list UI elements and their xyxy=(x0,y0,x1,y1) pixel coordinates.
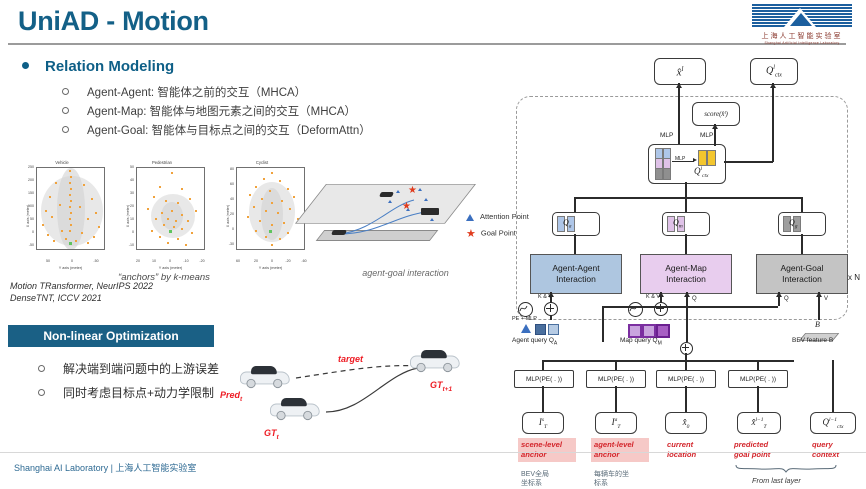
y-tick: 100 xyxy=(17,204,34,208)
x-tick: 0 xyxy=(169,259,171,263)
x-tick: 20 xyxy=(254,259,258,263)
plot-ylabel: X axis (meter) xyxy=(26,205,30,227)
map-query-square-icon xyxy=(628,324,642,338)
input-box-current-location: x̂0 xyxy=(665,412,707,434)
agent-agent-label: Agent-AgentInteraction xyxy=(552,263,599,284)
trajectory-paths xyxy=(218,342,518,454)
agent-query-square-icon xyxy=(535,324,546,335)
from-last-layer-label: From last layer xyxy=(752,476,801,485)
y-tick: 40 xyxy=(217,197,234,201)
y-tick: 40 xyxy=(117,178,134,182)
citation-1: Motion TRansformer, NeurIPS 2022 xyxy=(10,281,153,291)
map-query-square-icon xyxy=(642,324,656,338)
scene-anchor-caption: scene-levelanchor xyxy=(521,440,562,460)
sub-bullet-ring-icon xyxy=(62,88,69,95)
slide-root: UniAD - Motion 上海人工智能实验室 Shanghai Artifi… xyxy=(0,0,866,486)
query-context-caption: querycontext xyxy=(812,440,839,460)
citation-2: DenseTNT, ICCV 2021 xyxy=(10,293,102,303)
query-box-map: Qm xyxy=(662,212,710,236)
logo-cn-text: 上海人工智能实验室 xyxy=(746,31,858,41)
kv-label-agent: K & V xyxy=(538,294,552,300)
mlp-label-left: MLP xyxy=(660,132,673,139)
logo-en-text: Shanghai Artificial Intelligence Laborat… xyxy=(746,41,858,45)
sub-bullet-agent-goal: Agent-Goal: 智能体与目标点之间的交互（DeformAttn） xyxy=(62,122,371,138)
bev-feature-label: BEV feature B xyxy=(792,337,833,344)
plot-xlabel: Y axis (meter) xyxy=(136,266,205,270)
footer-text: Shanghai AI Laboratory | 上海人工智能实验室 xyxy=(14,461,196,474)
ego-car-icon xyxy=(331,230,347,235)
sub-bullet-label: Agent-Map: 智能体与地图元素之间的交互（MHCA） xyxy=(87,106,356,118)
plot-frame xyxy=(36,167,105,250)
bullet-dot-icon xyxy=(22,62,29,69)
y-tick: 50 xyxy=(117,165,134,169)
y-tick: 150 xyxy=(17,191,34,195)
map-query-square-icon xyxy=(656,324,670,338)
y-tick: 0 xyxy=(117,230,134,234)
kv-label-map: K & V xyxy=(646,294,660,300)
agent-query-square-icon xyxy=(548,324,559,335)
title-divider xyxy=(8,43,846,45)
score-box: score(x̂ˡ) xyxy=(692,102,740,126)
sub-bullet-ring-icon xyxy=(38,365,45,372)
y-tick: 20 xyxy=(117,204,134,208)
optimization-item-2: 同时考虑目标点+动力学限制 xyxy=(38,384,214,401)
q-label-map: Q xyxy=(692,296,697,302)
other-car-icon xyxy=(379,192,394,197)
plot-frame xyxy=(236,167,305,250)
scatter-plot-pedestrian: Pedestrian X axis (meter) 50 40 30 20 10… xyxy=(116,160,208,272)
agent-query-label: Agent query QA xyxy=(512,337,557,346)
y-tick: -10 xyxy=(117,243,134,247)
goal-fig-caption: agent-goal interaction xyxy=(318,268,493,278)
sub-bullet-ring-icon xyxy=(62,126,69,133)
plot-frame xyxy=(136,167,205,250)
legend-label: Goal Point xyxy=(481,228,516,237)
target-label: target xyxy=(338,354,363,364)
y-tick: 20 xyxy=(217,212,234,216)
v-label: V xyxy=(824,296,828,302)
y-tick: 60 xyxy=(217,182,234,186)
plot-ylabel: X axis (meter) xyxy=(126,205,130,227)
agent-map-interaction-block: Agent-MapInteraction xyxy=(640,254,732,294)
y-tick: -50 xyxy=(17,243,34,247)
bullet-relation-modeling: Relation Modeling xyxy=(22,58,174,75)
shanghai-ai-lab-logo: 上海人工智能实验室 Shanghai Artificial Intelligen… xyxy=(746,3,858,45)
x-tick: -60 xyxy=(301,259,306,263)
bev-b-symbol: B xyxy=(815,320,820,329)
x-tick: -20 xyxy=(199,259,204,263)
x-tick: 20 xyxy=(136,259,140,263)
query-box-agent: Qa xyxy=(552,212,600,236)
motion-former-architecture-diagram: x N x̂l Qlctx score(x̂ˡ) Qlctx MLP MLP M… xyxy=(512,58,866,458)
from-last-layer-brace xyxy=(734,464,838,474)
plot-xlabel: Y axis (meter) xyxy=(36,266,105,270)
repeat-count-label: x N xyxy=(848,273,860,282)
q-label-goal: Q xyxy=(784,296,789,302)
pe-mlp-label: PE + MLP xyxy=(512,316,537,322)
triangle-icon xyxy=(466,214,474,221)
center-qctx-label: Qlctx xyxy=(694,166,708,179)
mlp-pe-box-1: MLP(PE( . )) xyxy=(514,370,574,388)
y-tick: 250 xyxy=(17,165,34,169)
optimization-label: 同时考虑目标点+动力学限制 xyxy=(63,386,214,400)
map-query-label: Map query QM xyxy=(620,337,662,346)
x-tick: 60 xyxy=(236,259,240,263)
goal-point-star-icon: ★ xyxy=(408,186,417,196)
agent-agent-interaction-block: Agent-AgentInteraction xyxy=(530,254,622,294)
optimization-label: 解决端到端问题中的上游误差 xyxy=(63,362,219,376)
input-box-agent-anchor: IaT xyxy=(595,412,637,434)
nonlinear-optimization-banner: Non-linear Optimization xyxy=(8,325,214,347)
x-tick: 50 xyxy=(46,259,50,263)
y-tick: 10 xyxy=(117,217,134,221)
plot-title: Cyclist xyxy=(216,160,308,165)
input-box-goal-point: x̂l−1T xyxy=(737,412,781,434)
sub-bullet-ring-icon xyxy=(62,107,69,114)
current-location-caption: currentlocation xyxy=(667,440,696,460)
x-tick: -20 xyxy=(285,259,290,263)
plot-xlabel: Y axis (meter) xyxy=(236,266,305,270)
input-box-query-context: Ql−1ctx xyxy=(810,412,856,434)
agent-map-label: Agent-MapInteraction xyxy=(665,263,707,284)
y-tick: 50 xyxy=(17,217,34,221)
logo-mark-icon xyxy=(752,3,852,30)
scatter-plot-vehicle: Vehicle X axis (meter) 250 200 150 100 5… xyxy=(16,160,108,272)
query-box-goal: Qg xyxy=(778,212,826,236)
sub-bullet-ring-icon xyxy=(38,389,45,396)
gt-t1-label: GTt+1 xyxy=(430,380,452,393)
page-title: UniAD - Motion xyxy=(18,6,209,37)
bullet-main-label: Relation Modeling xyxy=(45,58,174,75)
agent-query-triangle-icon xyxy=(521,324,531,333)
y-tick: 80 xyxy=(217,167,234,171)
footer-divider xyxy=(0,452,866,453)
star-icon: ★ xyxy=(466,227,476,240)
plus-junction-icon xyxy=(544,302,558,316)
banner-label: Non-linear Optimization xyxy=(8,325,214,347)
y-tick: 0 xyxy=(217,227,234,231)
optimization-item-1: 解决端到端问题中的上游误差 xyxy=(38,360,219,377)
scene-anchor-cn-caption: BEV全局坐标系 xyxy=(521,470,549,489)
y-tick: 0 xyxy=(17,230,34,234)
y-tick: 30 xyxy=(117,191,134,195)
x-tick: -50 xyxy=(93,259,98,263)
gt-t-label: GTt xyxy=(264,428,279,441)
sub-bullet-agent-agent: Agent-Agent: 智能体之前的交互（MHCA） xyxy=(62,84,306,100)
mlp-label-right: MLP xyxy=(700,132,713,139)
y-tick: 200 xyxy=(17,178,34,182)
output-box-q-ctx: Qlctx xyxy=(750,58,798,85)
x-tick: 10 xyxy=(152,259,156,263)
agent-anchor-caption: agent-levelanchor xyxy=(594,440,634,460)
plot-ylabel: X axis (meter) xyxy=(226,205,230,227)
x-tick: -10 xyxy=(183,259,188,263)
y-tick: -30 xyxy=(217,242,234,246)
output-box-x-hat: x̂l xyxy=(654,58,706,85)
sub-bullet-label: Agent-Agent: 智能体之前的交互（MHCA） xyxy=(87,87,306,99)
trajectory-correction-figure: Predt GTt GTt+1 target xyxy=(218,342,518,454)
anchor-scatter-plots: Vehicle X axis (meter) 250 200 150 100 5… xyxy=(16,160,312,272)
agent-goal-label: Agent-GoalInteraction xyxy=(781,263,824,284)
agent-goal-illustration: ★ ★ Attention Point ★Goal Point xyxy=(318,172,508,268)
x-tick: 0 xyxy=(71,259,73,263)
x-tick: 0 xyxy=(271,259,273,263)
sub-bullet-label: Agent-Goal: 智能体与目标点之间的交互（DeformAttn） xyxy=(87,125,371,137)
pred-label: Predt xyxy=(220,390,242,403)
goal-point-caption: predictedgoal point xyxy=(734,440,770,460)
plus-junction-icon xyxy=(654,302,668,316)
truck-icon xyxy=(421,208,439,215)
agent-anchor-cn-caption: 每辆车的坐标系 xyxy=(594,470,629,489)
sub-bullet-agent-map: Agent-Map: 智能体与地图元素之间的交互（MHCA） xyxy=(62,103,356,119)
goal-point-star-icon: ★ xyxy=(402,202,411,212)
input-box-scene-anchor: IsT xyxy=(522,412,564,434)
scatter-plot-cyclist: Cyclist X axis (meter) 80 60 40 20 0 -30 xyxy=(216,160,308,272)
agent-goal-interaction-block: Agent-GoalInteraction xyxy=(756,254,848,294)
